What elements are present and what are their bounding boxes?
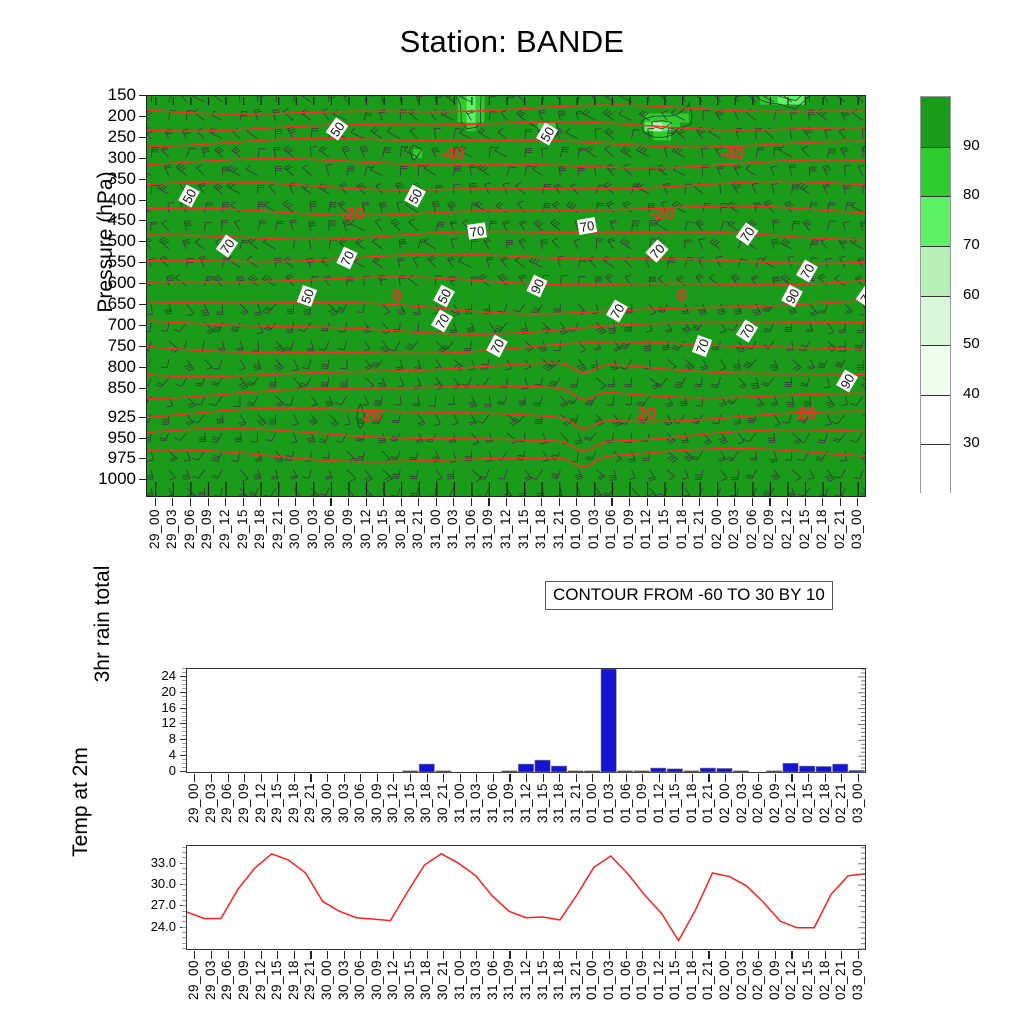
- time-tick: [559, 498, 560, 506]
- time-tick-label: 01_15: [667, 960, 682, 1000]
- pressure-tick: [139, 367, 146, 368]
- rain-axis-title: 3hr rain total: [91, 519, 115, 729]
- time-tick-label: 02_03: [734, 783, 749, 823]
- time-tick: [410, 774, 411, 782]
- time-tick-label: 30_03: [336, 960, 351, 1000]
- time-tick-label: 31_03: [445, 509, 460, 549]
- time-tick-label: 01_18: [684, 960, 699, 1000]
- time-tick: [524, 498, 525, 506]
- time-tick-label: 31_12: [518, 783, 533, 823]
- time-tick-label: 02_21: [833, 783, 848, 823]
- time-tick: [841, 774, 842, 782]
- time-tick: [260, 498, 261, 506]
- time-tick: [460, 951, 461, 959]
- time-tick-label: 01_21: [700, 960, 715, 1000]
- time-tick-label: 31_00: [452, 783, 467, 823]
- time-tick: [659, 774, 660, 782]
- time-tick-label: 01_00: [568, 509, 583, 549]
- pressure-tick: [139, 304, 146, 305]
- pressure-tick-label: 550: [80, 253, 136, 270]
- time-tick: [734, 498, 735, 506]
- temp-tick-label: 24.0: [130, 920, 176, 933]
- time-tick-label: 29_12: [253, 960, 268, 1000]
- pressure-tick: [139, 458, 146, 459]
- time-tick: [476, 951, 477, 959]
- time-tick: [443, 774, 444, 782]
- time-tick: [692, 774, 693, 782]
- pressure-tick: [139, 262, 146, 263]
- time-tick: [769, 498, 770, 506]
- time-tick: [327, 774, 328, 782]
- time-tick-label: 02_03: [726, 509, 741, 549]
- time-tick: [787, 498, 788, 506]
- time-tick: [526, 951, 527, 959]
- time-tick: [471, 498, 472, 506]
- time-tick-label: 01_12: [651, 960, 666, 1000]
- time-tick: [559, 951, 560, 959]
- time-tick: [509, 774, 510, 782]
- time-tick: [699, 498, 700, 506]
- colorbar-tick-label: 30: [963, 434, 980, 451]
- colorbar-tick-label: 50: [963, 335, 980, 352]
- pressure-tick-label: 200: [80, 107, 136, 124]
- time-tick-label: 02_06: [750, 783, 765, 823]
- time-tick-label: 31_06: [463, 509, 478, 549]
- time-tick: [418, 498, 419, 506]
- rain-inner-ticks: [858, 669, 865, 772]
- pressure-tick: [139, 479, 146, 480]
- rain-tick-label: 4: [136, 748, 176, 761]
- temp-tick-label: 33.0: [130, 856, 176, 869]
- time-tick: [294, 774, 295, 782]
- time-tick-label: 30_18: [418, 783, 433, 823]
- pressure-tick: [139, 179, 146, 180]
- time-tick-label: 02_06: [744, 509, 759, 549]
- time-tick: [277, 951, 278, 959]
- time-tick-label: 02_12: [779, 509, 794, 549]
- time-tick-label: 29_06: [182, 509, 197, 549]
- time-tick: [344, 951, 345, 959]
- contour-label: 70: [467, 222, 487, 240]
- time-tick: [611, 498, 612, 506]
- time-tick-label: 29_00: [186, 960, 201, 1000]
- time-tick-label: 29_03: [203, 783, 218, 823]
- colorbar-tick-label: 40: [963, 385, 980, 402]
- time-tick: [243, 498, 244, 506]
- time-tick-label: 31_15: [516, 509, 531, 549]
- time-tick-label: 29_09: [236, 960, 251, 1000]
- time-tick: [228, 951, 229, 959]
- time-tick: [393, 951, 394, 959]
- contour-label: 70: [577, 217, 597, 235]
- time-tick: [208, 498, 209, 506]
- time-tick-label: 31_09: [480, 509, 495, 549]
- skewt-time-height-plot[interactable]: -40-40-20-200020202050505050505070707070…: [146, 95, 866, 497]
- pressure-tick-label: 650: [80, 295, 136, 312]
- time-tick-label: 02_00: [717, 960, 732, 1000]
- time-tick: [443, 951, 444, 959]
- time-tick: [592, 951, 593, 959]
- time-tick: [244, 774, 245, 782]
- time-tick-label: 30_15: [375, 509, 390, 549]
- pressure-tick: [139, 200, 146, 201]
- time-tick-label: 29_00: [186, 783, 201, 823]
- temp-tick-label: 30.0: [130, 877, 176, 890]
- time-tick: [708, 774, 709, 782]
- contour-label: 20: [363, 406, 382, 425]
- time-tick-label: 29_21: [302, 960, 317, 1000]
- time-tick-label: 31_12: [518, 960, 533, 1000]
- temperature-line-chart[interactable]: [186, 845, 866, 950]
- temperature-line: [187, 854, 865, 941]
- time-tick: [647, 498, 648, 506]
- time-tick: [493, 774, 494, 782]
- time-tick-label: 01_06: [603, 509, 618, 549]
- rain-tick-label: 8: [136, 732, 176, 745]
- rain-tick-label: 20: [136, 685, 176, 698]
- time-tick-label: 31_21: [568, 783, 583, 823]
- time-tick-label: 01_09: [634, 960, 649, 1000]
- contour-label: 0: [392, 286, 401, 305]
- time-tick: [682, 498, 683, 506]
- pressure-tick-label: 975: [80, 449, 136, 466]
- time-tick-label: 30_09: [369, 783, 384, 823]
- time-tick: [294, 951, 295, 959]
- rain-bars: [403, 669, 865, 772]
- time-tick: [725, 774, 726, 782]
- temp-tick-label: 27.0: [130, 898, 176, 911]
- time-tick-label: 30_09: [369, 960, 384, 1000]
- pressure-tick: [139, 283, 146, 284]
- temp-inner-ticks: [858, 848, 865, 949]
- time-tick: [427, 774, 428, 782]
- time-tick-label: 31_18: [533, 509, 548, 549]
- time-tick: [609, 774, 610, 782]
- time-tick: [594, 498, 595, 506]
- cross-section-svg: -40-40-20-200020202050505050505070707070…: [147, 96, 866, 497]
- pressure-tick-label: 950: [80, 429, 136, 446]
- colorbar-tick-label: 90: [963, 137, 980, 154]
- time-tick: [775, 774, 776, 782]
- time-tick: [592, 774, 593, 782]
- time-tick: [642, 774, 643, 782]
- time-tick-label: 01_21: [691, 509, 706, 549]
- time-tick-label: 29_15: [235, 509, 250, 549]
- time-tick: [330, 498, 331, 506]
- time-tick-label: 30_15: [402, 783, 417, 823]
- time-tick: [310, 951, 311, 959]
- time-tick: [576, 774, 577, 782]
- time-tick: [393, 774, 394, 782]
- rain-bars-svg: [187, 669, 867, 774]
- pressure-tick-label: 300: [80, 149, 136, 166]
- pressure-tick-label: 150: [80, 86, 136, 103]
- time-tick: [825, 951, 826, 959]
- time-tick-label: 02_00: [709, 509, 724, 549]
- time-tick-label: 29_12: [253, 783, 268, 823]
- time-tick-label: 01_12: [651, 783, 666, 823]
- time-tick-label: 02_09: [767, 783, 782, 823]
- time-tick: [453, 498, 454, 506]
- time-tick-label: 29_18: [286, 783, 301, 823]
- contour-label: 20: [798, 404, 817, 423]
- colorbar-tick-label: 80: [963, 186, 980, 203]
- humidity-colorbar: [920, 96, 951, 493]
- time-tick: [172, 498, 173, 506]
- time-tick-label: 30_00: [319, 783, 334, 823]
- time-tick: [327, 951, 328, 959]
- colorbar-cell: [921, 296, 950, 346]
- time-tick: [377, 951, 378, 959]
- time-tick-label: 02_03: [734, 960, 749, 1000]
- time-tick: [377, 774, 378, 782]
- time-tick-label: 30_06: [352, 783, 367, 823]
- time-tick: [383, 498, 384, 506]
- pressure-tick-label: 350: [80, 170, 136, 187]
- time-tick-label: 29_03: [203, 960, 218, 1000]
- pressure-tick: [139, 325, 146, 326]
- time-tick-label: 01_15: [667, 783, 682, 823]
- time-tick: [348, 498, 349, 506]
- time-tick-label: 29_21: [270, 509, 285, 549]
- time-tick-label: 01_06: [618, 783, 633, 823]
- time-tick: [626, 951, 627, 959]
- time-tick: [460, 774, 461, 782]
- time-tick-label: 30_21: [435, 960, 450, 1000]
- time-tick-label: 02_15: [800, 960, 815, 1000]
- time-tick: [841, 951, 842, 959]
- pressure-tick: [139, 220, 146, 221]
- contour-label: -20: [650, 204, 675, 223]
- time-tick-label: 29_06: [219, 960, 234, 1000]
- time-tick-label: 02_12: [783, 960, 798, 1000]
- time-tick-label: 30_03: [336, 783, 351, 823]
- time-tick: [543, 774, 544, 782]
- time-tick-label: 01_03: [601, 783, 616, 823]
- pressure-tick: [139, 388, 146, 389]
- time-tick-label: 31_15: [535, 960, 550, 1000]
- time-tick: [244, 951, 245, 959]
- time-tick-label: 31_21: [568, 960, 583, 1000]
- contour-label: -40: [440, 144, 465, 163]
- time-tick: [194, 951, 195, 959]
- time-tick: [313, 498, 314, 506]
- pressure-tick-label: 600: [80, 274, 136, 291]
- pressure-tick-label: 1000: [80, 470, 136, 487]
- time-tick: [211, 951, 212, 959]
- time-tick-label: 31_00: [428, 509, 443, 549]
- time-tick: [808, 951, 809, 959]
- time-tick-label: 03_00: [850, 783, 865, 823]
- time-tick-label: 30_15: [402, 960, 417, 1000]
- pressure-tick-label: 925: [80, 408, 136, 425]
- time-tick-label: 01_03: [586, 509, 601, 549]
- time-tick-label: 31_21: [551, 509, 566, 549]
- contour-note: CONTOUR FROM -60 TO 30 BY 10: [545, 581, 833, 610]
- time-tick: [822, 498, 823, 506]
- colorbar-cell: [921, 196, 950, 246]
- time-tick: [427, 951, 428, 959]
- time-tick: [493, 951, 494, 959]
- time-tick: [278, 498, 279, 506]
- time-tick-label: 01_18: [684, 783, 699, 823]
- time-tick: [225, 498, 226, 506]
- pressure-tick-label: 450: [80, 211, 136, 228]
- time-tick-label: 30_21: [410, 509, 425, 549]
- time-tick-label: 01_18: [674, 509, 689, 549]
- pressure-tick: [139, 241, 146, 242]
- time-tick-label: 02_09: [767, 960, 782, 1000]
- time-tick: [758, 774, 759, 782]
- rain-bar-chart[interactable]: [186, 668, 866, 773]
- time-tick: [559, 774, 560, 782]
- time-tick: [211, 774, 212, 782]
- rain-tick-label: 24: [136, 669, 176, 682]
- time-tick: [626, 774, 627, 782]
- time-tick: [261, 951, 262, 959]
- time-tick-label: 01_00: [584, 960, 599, 1000]
- contour-label: 20: [638, 404, 657, 423]
- time-tick: [664, 498, 665, 506]
- contour-label: 0: [677, 286, 686, 305]
- time-tick: [752, 498, 753, 506]
- time-tick: [858, 951, 859, 959]
- time-tick-label: 02_18: [814, 509, 829, 549]
- time-tick: [692, 951, 693, 959]
- time-tick: [476, 774, 477, 782]
- time-tick-label: 02_18: [817, 783, 832, 823]
- time-tick: [295, 498, 296, 506]
- time-tick-label: 29_15: [269, 960, 284, 1000]
- time-tick: [228, 774, 229, 782]
- time-tick: [825, 774, 826, 782]
- time-tick-label: 01_06: [618, 960, 633, 1000]
- colorbar-cell: [921, 444, 950, 494]
- time-tick-label: 02_15: [800, 783, 815, 823]
- time-tick: [410, 951, 411, 959]
- time-tick: [194, 774, 195, 782]
- temp-line-svg: [187, 846, 867, 951]
- time-tick-label: 30_18: [393, 509, 408, 549]
- time-tick-label: 31_03: [468, 960, 483, 1000]
- time-tick: [775, 951, 776, 959]
- time-tick-label: 30_12: [385, 783, 400, 823]
- time-tick-label: 02_15: [797, 509, 812, 549]
- time-tick: [155, 498, 156, 506]
- time-tick: [360, 951, 361, 959]
- time-tick: [576, 951, 577, 959]
- time-tick-label: 29_03: [164, 509, 179, 549]
- rain-tick-label: 0: [136, 764, 176, 777]
- time-tick: [805, 498, 806, 506]
- time-tick: [360, 774, 361, 782]
- time-tick-label: 01_09: [634, 783, 649, 823]
- time-tick-label: 31_09: [501, 783, 516, 823]
- time-tick-label: 30_00: [287, 509, 302, 549]
- time-tick: [436, 498, 437, 506]
- contour-label: -20: [340, 204, 365, 223]
- time-tick-label: 29_12: [217, 509, 232, 549]
- time-tick: [742, 951, 743, 959]
- time-tick: [758, 951, 759, 959]
- temp-axis-title: Temp at 2m: [69, 697, 93, 907]
- time-tick: [717, 498, 718, 506]
- time-tick: [675, 951, 676, 959]
- time-tick-label: 02_06: [750, 960, 765, 1000]
- time-tick-label: 31_18: [551, 960, 566, 1000]
- time-tick-label: 29_09: [236, 783, 251, 823]
- time-tick-label: 29_09: [199, 509, 214, 549]
- pressure-tick: [139, 95, 146, 96]
- time-tick: [675, 774, 676, 782]
- time-tick: [277, 774, 278, 782]
- time-tick-label: 03_00: [849, 509, 864, 549]
- time-tick: [344, 774, 345, 782]
- time-tick: [629, 498, 630, 506]
- colorbar-cell: [921, 147, 950, 197]
- time-tick: [509, 951, 510, 959]
- time-tick-label: 29_06: [219, 783, 234, 823]
- time-tick-label: 01_12: [638, 509, 653, 549]
- time-tick-label: 30_09: [340, 509, 355, 549]
- time-tick: [488, 498, 489, 506]
- time-tick-label: 30_03: [305, 509, 320, 549]
- time-tick-label: 01_21: [700, 783, 715, 823]
- time-tick-label: 30_06: [352, 960, 367, 1000]
- time-tick: [725, 951, 726, 959]
- time-tick-label: 02_12: [783, 783, 798, 823]
- time-tick: [659, 951, 660, 959]
- time-tick-label: 03_00: [850, 960, 865, 1000]
- pressure-tick: [139, 346, 146, 347]
- time-tick-label: 01_00: [584, 783, 599, 823]
- pressure-tick-label: 800: [80, 358, 136, 375]
- time-tick-label: 31_03: [468, 783, 483, 823]
- time-tick: [541, 498, 542, 506]
- time-tick: [543, 951, 544, 959]
- time-tick-label: 30_18: [418, 960, 433, 1000]
- time-tick-label: 01_09: [621, 509, 636, 549]
- colorbar-tick-label: 60: [963, 286, 980, 303]
- contour-label: -40: [720, 144, 745, 163]
- time-tick: [791, 951, 792, 959]
- rain-tick-label: 12: [136, 716, 176, 729]
- page-title: Station: BANDE: [0, 24, 1024, 60]
- time-tick-label: 29_18: [252, 509, 267, 549]
- colorbar-cell: [921, 345, 950, 395]
- time-tick-label: 29_15: [269, 783, 284, 823]
- time-tick: [808, 774, 809, 782]
- time-tick: [858, 774, 859, 782]
- pressure-tick-label: 400: [80, 191, 136, 208]
- pressure-tick-label: 700: [80, 316, 136, 333]
- time-tick: [609, 951, 610, 959]
- time-tick-label: 01_03: [601, 960, 616, 1000]
- time-tick-label: 31_00: [452, 960, 467, 1000]
- time-tick-label: 31_06: [485, 960, 500, 1000]
- time-tick: [857, 498, 858, 506]
- time-tick-label: 02_00: [717, 783, 732, 823]
- pressure-tick: [139, 417, 146, 418]
- time-tick-label: 30_00: [319, 960, 334, 1000]
- time-tick: [190, 498, 191, 506]
- pressure-tick-label: 250: [80, 128, 136, 145]
- pressure-tick: [139, 116, 146, 117]
- time-tick: [261, 774, 262, 782]
- time-tick-label: 30_06: [322, 509, 337, 549]
- time-tick: [310, 774, 311, 782]
- time-tick-label: 01_15: [656, 509, 671, 549]
